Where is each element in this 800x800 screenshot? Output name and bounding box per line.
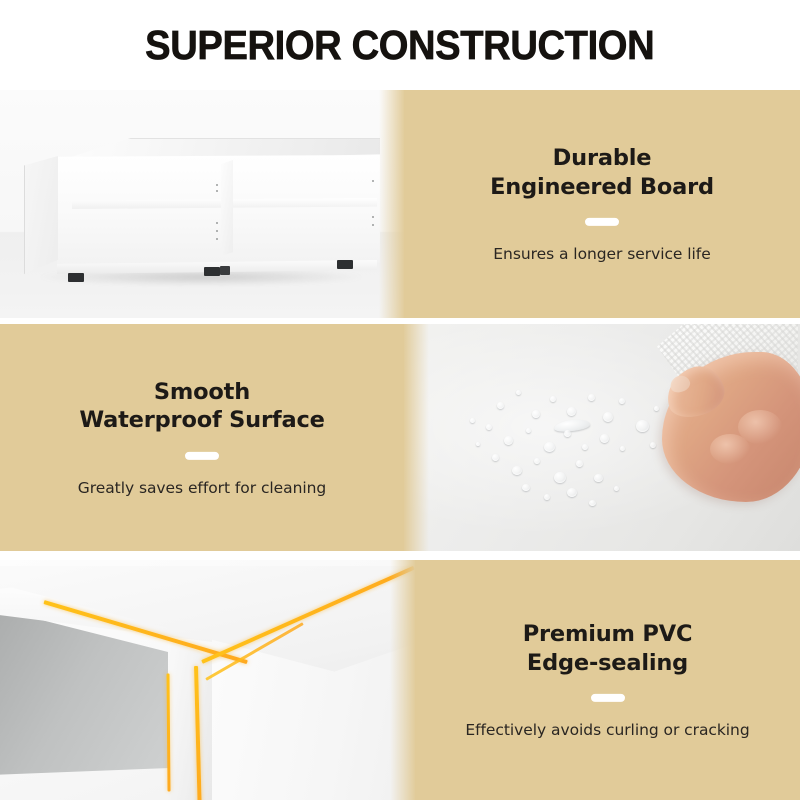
shelf-peg-hole: [372, 180, 374, 182]
feature-subline: Ensures a longer service life: [493, 244, 710, 264]
water-droplet: [589, 500, 596, 506]
feature-row-durable-engineered-board: Durable Engineered Board Ensures a longe…: [0, 90, 800, 318]
feature-copy-smooth-waterproof-surface: Smooth Waterproof Surface Greatly saves …: [0, 324, 404, 551]
shelf-peg-hole: [216, 190, 218, 192]
feature-subline: Greatly saves effort for cleaning: [78, 477, 326, 497]
water-droplet: [516, 390, 521, 395]
water-droplet: [492, 454, 499, 461]
water-droplet: [564, 430, 571, 437]
water-droplet: [567, 407, 576, 416]
water-droplet: [470, 418, 475, 423]
copy-stack: Premium PVC Edge-sealing Effectively avo…: [415, 620, 800, 740]
stand-foot: [220, 266, 230, 275]
feature-headline: Premium PVC Edge-sealing: [523, 620, 693, 677]
water-droplet: [497, 402, 504, 409]
water-droplet: [526, 428, 531, 433]
shelf-peg-hole: [372, 216, 374, 218]
hand-with-cloth: [598, 324, 800, 508]
furniture-corner-closeup: [0, 560, 415, 800]
feature-headline-line-1: Durable: [490, 144, 714, 173]
shelf-peg-hole: [216, 238, 218, 240]
headline-divider-dash: [185, 451, 219, 459]
feature-headline-line-2: Engineered Board: [490, 172, 714, 201]
water-droplet: [512, 466, 522, 475]
feature-headline-line-2: Edge-sealing: [523, 648, 693, 677]
feature-headline-line-1: Smooth: [79, 377, 324, 406]
water-droplet: [576, 460, 583, 467]
pvc-edge-sealing-corner-photo: [0, 560, 415, 800]
shelf-peg-hole: [216, 184, 218, 186]
feature-headline-line-2: Waterproof Surface: [79, 406, 324, 435]
water-droplet: [522, 484, 530, 491]
feature-copy-premium-pvc-edge-sealing: Premium PVC Edge-sealing Effectively avo…: [415, 560, 800, 800]
stand-front-frame: [57, 155, 380, 268]
hand-knuckle: [710, 434, 750, 464]
water-droplet: [532, 410, 540, 418]
shelf-peg-hole: [216, 230, 218, 232]
water-droplet: [504, 436, 513, 445]
feature-headline-line-1: Premium PVC: [523, 620, 693, 649]
water-droplet: [588, 394, 595, 401]
stand-foot: [68, 273, 84, 282]
feature-row-smooth-waterproof-surface: Smooth Waterproof Surface Greatly saves …: [0, 324, 800, 551]
stand-left-side-panel: [24, 156, 58, 274]
water-droplet: [550, 396, 556, 402]
water-droplet: [534, 458, 540, 464]
feature-headline: Durable Engineered Board: [490, 144, 714, 201]
water-droplet: [544, 494, 550, 500]
water-beading-wipe-photo: [404, 324, 800, 551]
infographic-sheet: SUPERIOR CONSTRUCTION: [0, 0, 800, 800]
headline-divider-dash: [585, 218, 619, 226]
copy-stack: Durable Engineered Board Ensures a longe…: [404, 144, 800, 264]
copy-stack: Smooth Waterproof Surface Greatly saves …: [0, 377, 404, 497]
stand-foot: [204, 267, 220, 276]
water-droplet: [544, 442, 555, 452]
water-droplet: [582, 444, 588, 450]
water-droplet: [567, 488, 577, 497]
water-droplet: [486, 424, 492, 430]
water-smear: [553, 418, 590, 433]
headline-divider-dash: [591, 694, 625, 702]
shelf-peg-hole: [216, 222, 218, 224]
water-droplet: [476, 442, 480, 446]
stand-foot: [337, 260, 353, 269]
page-title: SUPERIOR CONSTRUCTION: [145, 25, 654, 66]
title-bar: SUPERIOR CONSTRUCTION: [0, 0, 800, 90]
feature-headline: Smooth Waterproof Surface: [79, 377, 324, 434]
feature-row-premium-pvc-edge-sealing: Premium PVC Edge-sealing Effectively avo…: [0, 560, 800, 800]
feature-copy-durable-engineered-board: Durable Engineered Board Ensures a longe…: [404, 90, 800, 318]
tv-stand-illustration: [24, 138, 380, 278]
water-droplet: [554, 472, 566, 483]
white-four-cube-tv-stand-photo: [0, 90, 404, 318]
feature-subline: Effectively avoids curling or cracking: [465, 720, 749, 740]
stand-center-divider: [221, 160, 233, 256]
shelf-peg-hole: [372, 224, 374, 226]
